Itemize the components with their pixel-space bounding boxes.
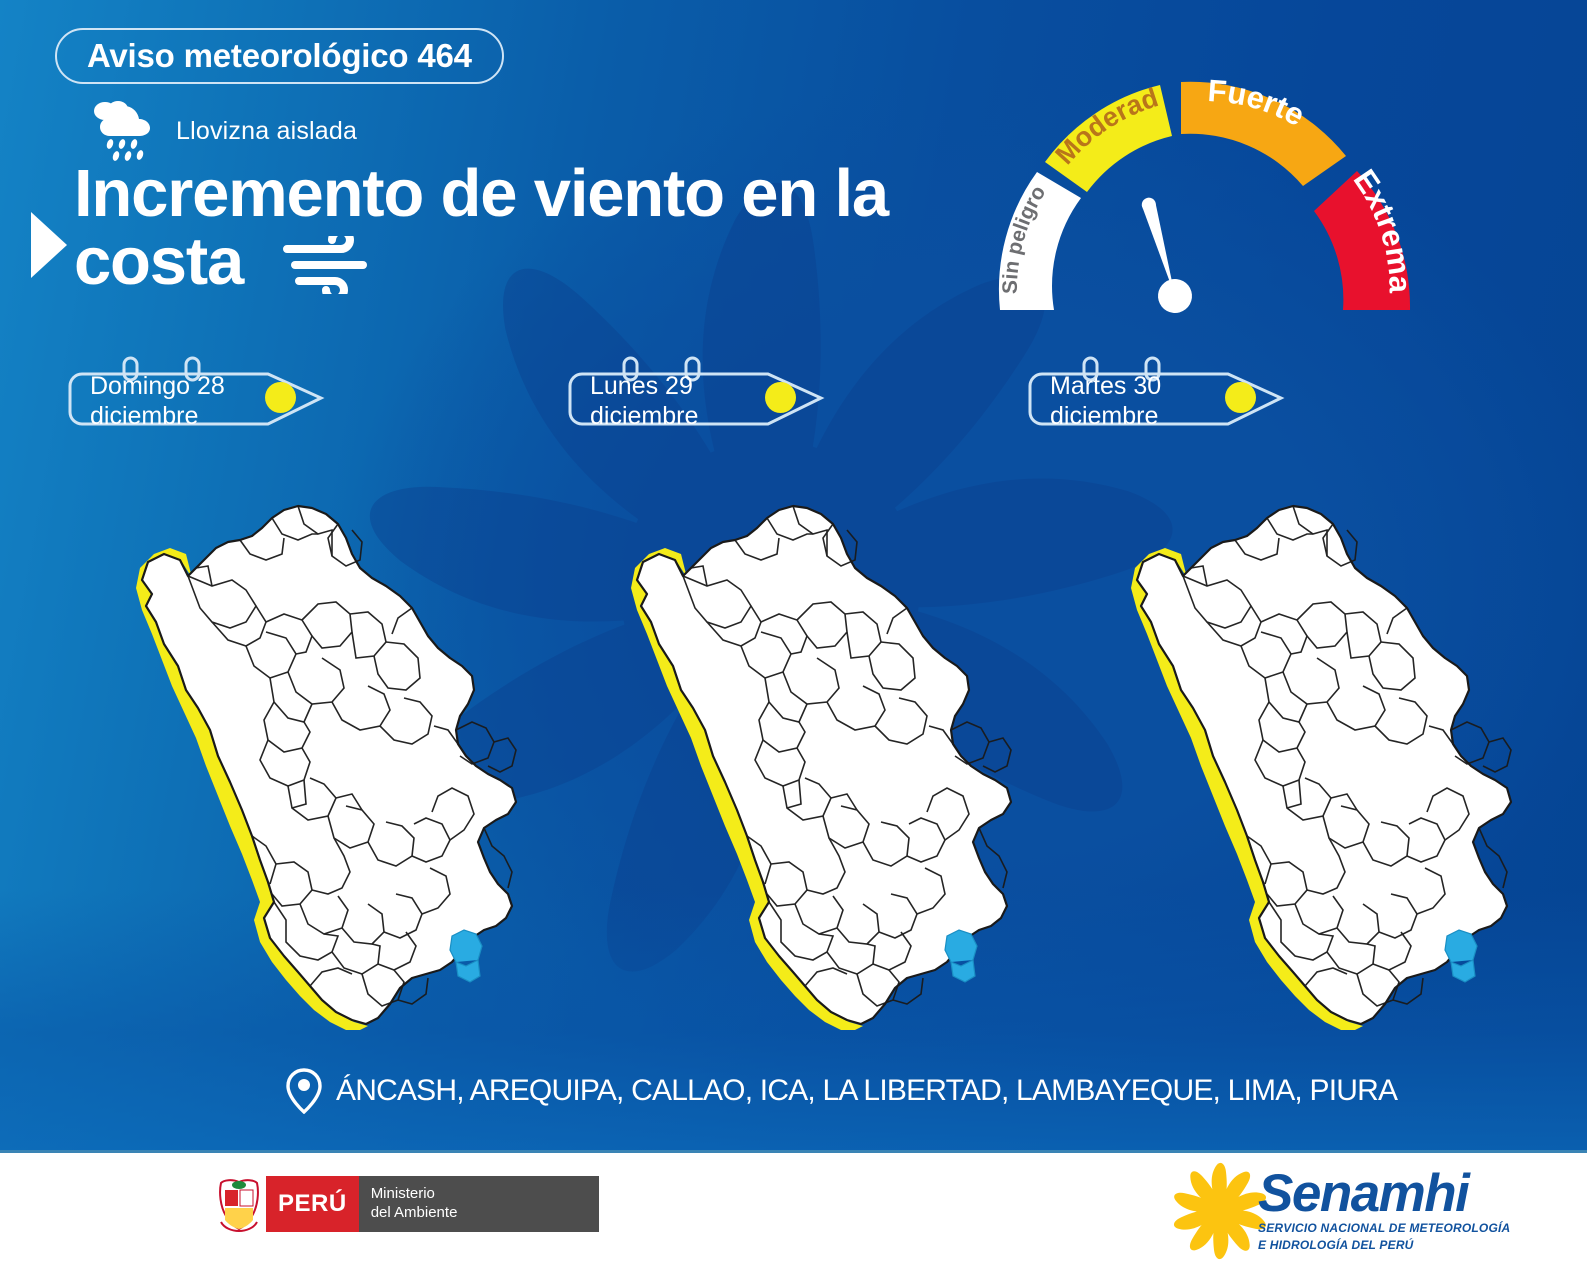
lake-titicaca [945,930,977,982]
advisory-number-pill: Aviso meteorológico 464 [55,28,504,84]
infographic-canvas: Aviso meteorológico 464 [0,0,1587,1267]
senamhi-sun-icon [1168,1162,1258,1260]
location-pin-icon [286,1068,322,1114]
senamhi-name: Senamhi [1258,1169,1510,1219]
peru-coat-of-arms-icon [212,1176,266,1232]
lake-titicaca [1445,930,1477,982]
gov-ministry-label: Ministerio del Ambiente [359,1176,599,1232]
ministry-line-2: del Ambiente [371,1204,585,1223]
lake-titicaca [450,930,482,982]
affected-regions: ÁNCASH, AREQUIPA, CALLAO, ICA, LA LIBERT… [286,1068,1397,1114]
peru-map-day-3 [1055,390,1525,1070]
danger-level-gauge: Sin peligro Moderada Fuerte Extrema [985,48,1455,323]
title-line-1: Incremento de viento en la [74,160,994,228]
regions-list: ÁNCASH, AREQUIPA, CALLAO, ICA, LA LIBERT… [336,1074,1397,1108]
ministry-line-1: Ministerio [371,1185,585,1204]
triangle-right-icon [31,212,67,278]
footer: PERÚ Ministerio del Ambiente [0,1150,1587,1267]
peru-map-day-1 [60,390,530,1070]
senamhi-tagline-2: E HIDROLOGÍA DEL PERÚ [1258,1238,1510,1253]
senamhi-tagline-1: SERVICIO NACIONAL DE METEOROLOGÍA [1258,1221,1510,1236]
peru-map-day-2 [555,390,1025,1070]
senamhi-logo: Senamhi SERVICIO NACIONAL DE METEOROLOGÍ… [1168,1162,1510,1260]
gauge-needle [1131,193,1196,317]
gov-logo: PERÚ Ministerio del Ambiente [212,1176,599,1232]
condition-label: Llovizna aislada [176,117,357,146]
title-line-2: costa [74,228,243,296]
wind-icon [277,230,373,294]
page-title: Incremento de viento en la costa [74,160,994,297]
gov-country-label: PERÚ [266,1176,359,1232]
footer-divider [0,1150,1587,1153]
